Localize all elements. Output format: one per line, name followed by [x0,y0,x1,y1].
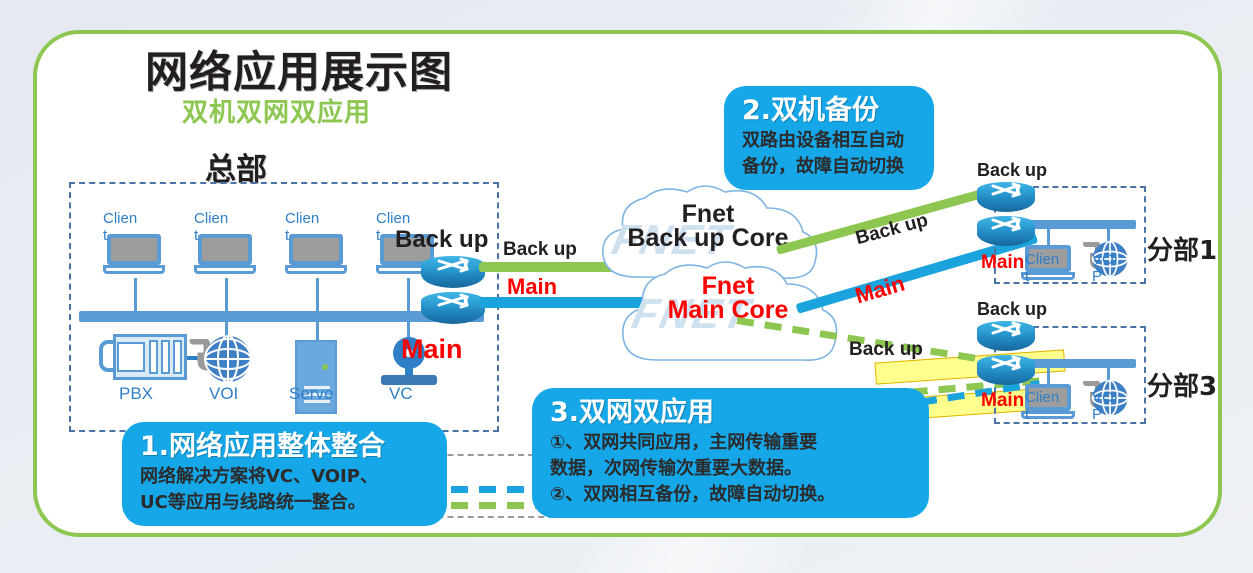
page-subtitle: 双机双网双应用 [182,92,371,129]
branch3-client-label: Clien [1025,390,1065,405]
hq-main-link-label: Main [507,274,557,300]
router-arrows-icon [977,321,1041,339]
pbx-module [173,340,182,374]
pbx-module [149,340,158,374]
callout-1[interactable]: 1.网络应用整体整合 网络解决方案将VC、VOIP、 UC等应用与线路统一整合。 [122,422,447,526]
branch1-client-label-cont: t [1025,269,1065,284]
voi-label: VOI [209,386,269,401]
hq-backup-router[interactable] [421,256,485,294]
callout-3[interactable]: 3.双网双应用 ①、双网共同应用，主网传输重要 数据，次网传输次重要大数据。 ②… [532,388,929,518]
branch3-backup-router-label: Back up [977,299,1047,320]
callout-1-heading: 1.网络应用整体整合 [140,430,431,464]
branch3-voip-label: VOI [1092,390,1132,405]
pbx-label: PBX [119,386,179,401]
voip-globe-icon[interactable] [203,334,253,384]
hq-main-router[interactable] [421,292,485,330]
callout-3-line-3: ②、双网相互备份，故障自动切换。 [550,482,913,508]
pbx-module [117,342,145,372]
hq-backup-link-label: Back up [503,239,577,261]
branch1-backup-router-label: Back up [977,160,1047,181]
callout-3-line-1: ①、双网共同应用，主网传输重要 [550,430,913,456]
diagram-card: 网络应用展示图 双机双网双应用 总部 Clien t Clien t [33,30,1222,537]
branch1-backup-router[interactable] [977,182,1035,216]
callout-2-line-1: 双路由设备相互自动 [742,128,918,154]
branch1-main-link-label: Main [852,271,907,310]
hq-client-label-2-cont: t [194,228,234,243]
client-drop-line [407,278,410,312]
router-arrows-icon [421,292,485,310]
hq-client-label-2: Clien [194,211,234,226]
callout-1-line-1: 网络解决方案将VC、VOIP、 [140,464,431,490]
branch1-voip-label-cont: P [1092,269,1132,284]
callout-2-heading: 2.双机备份 [742,94,918,128]
router-arrows-icon [977,216,1041,234]
callout-1-line-2: UC等应用与线路统一整合。 [140,490,431,516]
client-drop-line [134,278,137,312]
client-drop-line [316,278,319,312]
hq-client-label-1-cont: t [103,228,143,243]
branch3-backup-link-label: Back up [849,339,923,361]
hq-backup-router-label: Back up [395,226,488,254]
server-drop-line [316,322,319,342]
client-drop-line [225,278,228,312]
router-arrows-icon [977,355,1041,373]
branch1-voip-label: VOI [1092,252,1132,267]
branch1-client-label: Clien [1025,252,1065,267]
vc-label: VC [389,386,439,401]
callout-2-line-2: 备份，故障自动切换 [742,154,918,180]
callout-2[interactable]: 2.双机备份 双路由设备相互自动 备份，故障自动切换 [724,86,934,190]
hq-client-label-3: Clien [285,211,325,226]
hq-client-label-3-cont: t [285,228,325,243]
branch3-client-label-cont: t [1025,407,1065,422]
laptop-base-icon [194,265,256,274]
pbx-module [161,340,170,374]
branch3-main-router-label: Main [981,390,1024,412]
pbx-handset-icon [99,340,113,372]
laptop-base-icon [103,265,165,274]
callout-3-line-2: 数据，次网传输次重要大数据。 [550,456,913,482]
branch1-main-router-label: Main [981,252,1024,274]
page-title: 网络应用展示图 [145,38,453,100]
server-led-icon [322,364,328,370]
hq-client-label-4: Clien [376,211,416,226]
router-arrows-icon [421,256,485,274]
pbx-icon[interactable] [99,334,187,380]
server-label: Serve [289,386,359,401]
branch3-label: 分部3 [1147,366,1217,403]
hq-client-label-1: Clien [103,211,143,226]
branch3-backup-router[interactable] [977,321,1035,355]
branch1-label: 分部1 [1147,230,1217,267]
callout-3-heading: 3.双网双应用 [550,396,913,430]
router-arrows-icon [977,182,1041,200]
hq-main-router-label: Main [401,334,463,365]
branch3-voip-label-cont: P [1092,407,1132,422]
laptop-base-icon [285,265,347,274]
